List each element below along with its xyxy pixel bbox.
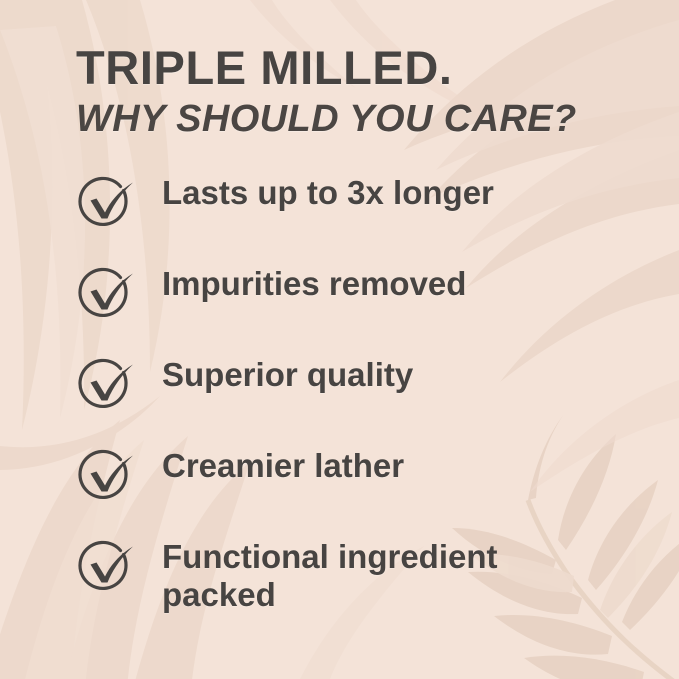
benefit-label: Superior quality bbox=[162, 356, 413, 394]
benefit-list: Lasts up to 3x longer Impurities removed… bbox=[76, 174, 639, 615]
triple-milled-infographic: TRIPLE MILLED. WHY SHOULD YOU CARE? Last… bbox=[0, 0, 679, 679]
page-subtitle: WHY SHOULD YOU CARE? bbox=[76, 99, 639, 140]
check-circle-icon bbox=[76, 176, 138, 232]
list-item: Superior quality bbox=[76, 356, 639, 414]
benefit-label: Impurities removed bbox=[162, 265, 466, 303]
benefit-label: Creamier lather bbox=[162, 447, 404, 485]
list-item: Lasts up to 3x longer bbox=[76, 174, 639, 232]
benefit-label: Lasts up to 3x longer bbox=[162, 174, 494, 212]
check-circle-icon bbox=[76, 540, 138, 596]
list-item: Functional ingredient packed bbox=[76, 538, 639, 615]
list-item: Impurities removed bbox=[76, 265, 639, 323]
check-circle-icon bbox=[76, 449, 138, 505]
list-item: Creamier lather bbox=[76, 447, 639, 505]
benefit-label: Functional ingredient packed bbox=[162, 538, 592, 615]
content-area: TRIPLE MILLED. WHY SHOULD YOU CARE? Last… bbox=[0, 0, 679, 679]
page-title: TRIPLE MILLED. bbox=[76, 44, 639, 93]
check-circle-icon bbox=[76, 358, 138, 414]
check-circle-icon bbox=[76, 267, 138, 323]
